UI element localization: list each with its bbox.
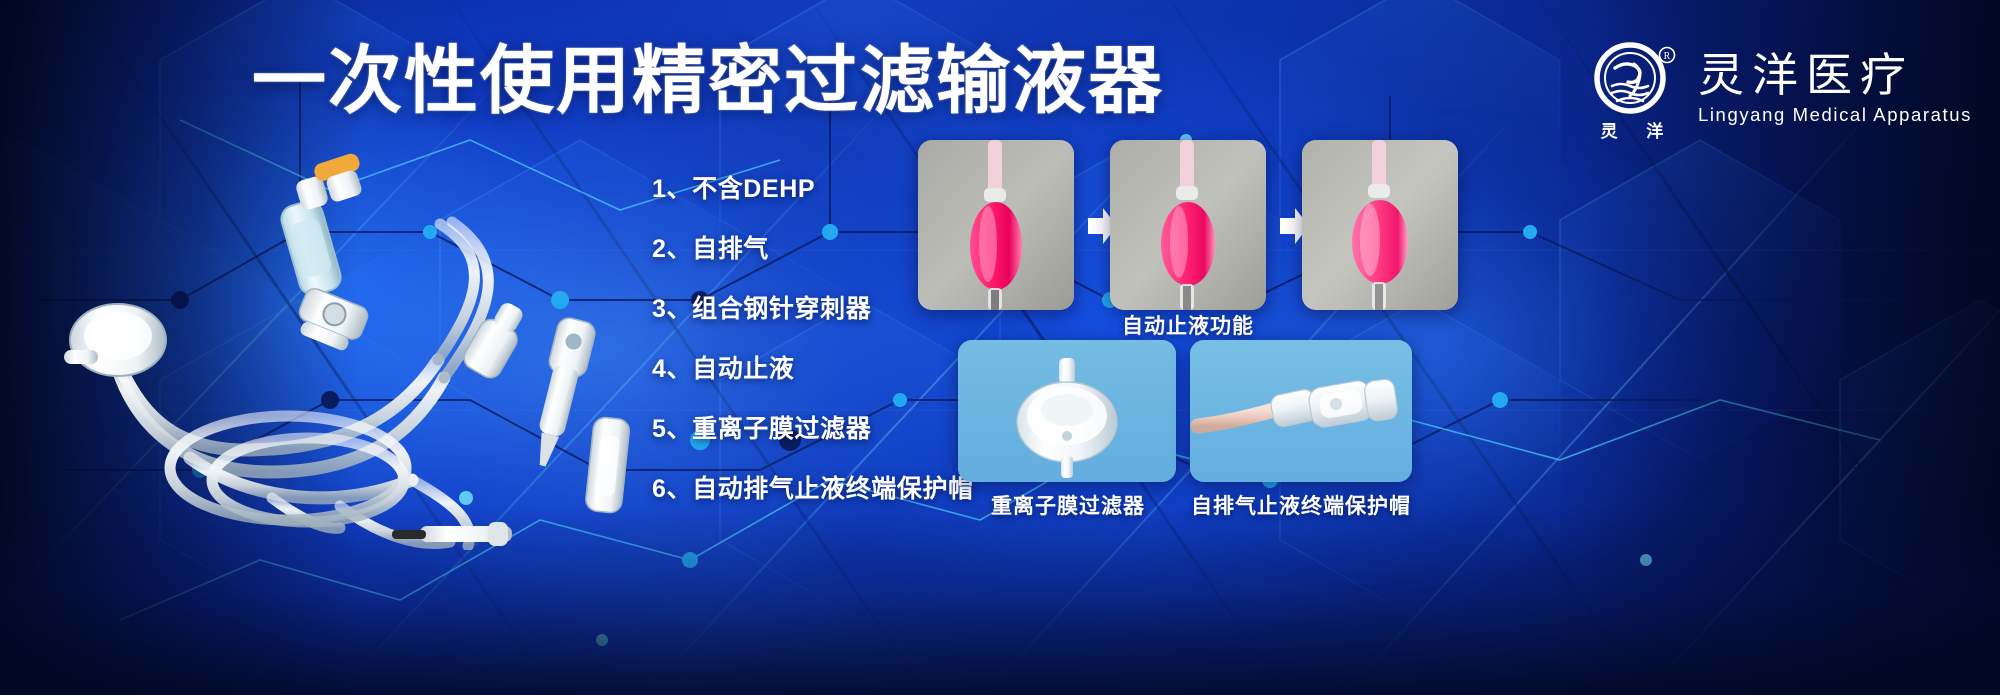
infusion-set-photo xyxy=(40,150,680,550)
photo-panel-auto-stop-stage-1 xyxy=(918,140,1074,310)
caption-heavy-ion-membrane-filter: 重离子膜过滤器 xyxy=(968,490,1168,520)
feature-item-4: 4、自动止液 xyxy=(652,352,974,386)
roller-clamp xyxy=(291,286,370,355)
filter-disc xyxy=(64,304,166,376)
caption-self-venting-terminal-cap: 自排气止液终端保护帽 xyxy=(1190,490,1412,520)
banner-title: 一次性使用精密过滤输液器 xyxy=(252,44,1164,118)
svg-text:R: R xyxy=(1664,51,1671,62)
terminal-protective-cap xyxy=(585,416,631,513)
brand-text-block: 灵洋医疗 Lingyang Medical Apparatus xyxy=(1698,51,1972,128)
photo-panel-auto-stop-stage-2 xyxy=(1110,140,1266,310)
lingyang-circular-emblem: R 灵 洋 xyxy=(1584,38,1680,140)
photo-panel-heavy-ion-filter xyxy=(958,340,1176,482)
company-name-cn: 灵洋医疗 xyxy=(1698,51,1972,101)
feature-item-6: 6、自动排气止液终端保护帽 xyxy=(652,472,974,506)
heavy-ion-membrane-filter-image xyxy=(958,340,1176,482)
drip-chamber-stage-3-image xyxy=(1302,140,1458,310)
photo-panel-auto-stop-stage-3 xyxy=(1302,140,1458,310)
drip-chamber-stage-1-image xyxy=(918,140,1074,310)
photo-panel-terminal-cap xyxy=(1190,340,1412,482)
caption-auto-stop-function: 自动止液功能 xyxy=(1108,310,1268,340)
emblem-subtext: 灵 洋 xyxy=(1584,117,1680,142)
infusion-set-illustration xyxy=(40,150,680,550)
brand-logo: R 灵 洋 灵洋医疗 Lingyang Medical Apparatus xyxy=(1584,38,1972,140)
promo-banner: 一次性使用精密过滤输液器 R 灵 洋 灵洋医疗 Lingyang Medical… xyxy=(0,0,2000,695)
drip-chamber-stage-2-image xyxy=(1110,140,1266,310)
self-venting-terminal-cap-image xyxy=(1190,340,1412,482)
feature-item-5: 5、重离子膜过滤器 xyxy=(652,412,974,446)
needle-assembly xyxy=(524,316,597,471)
company-name-en: Lingyang Medical Apparatus xyxy=(1698,103,1972,127)
